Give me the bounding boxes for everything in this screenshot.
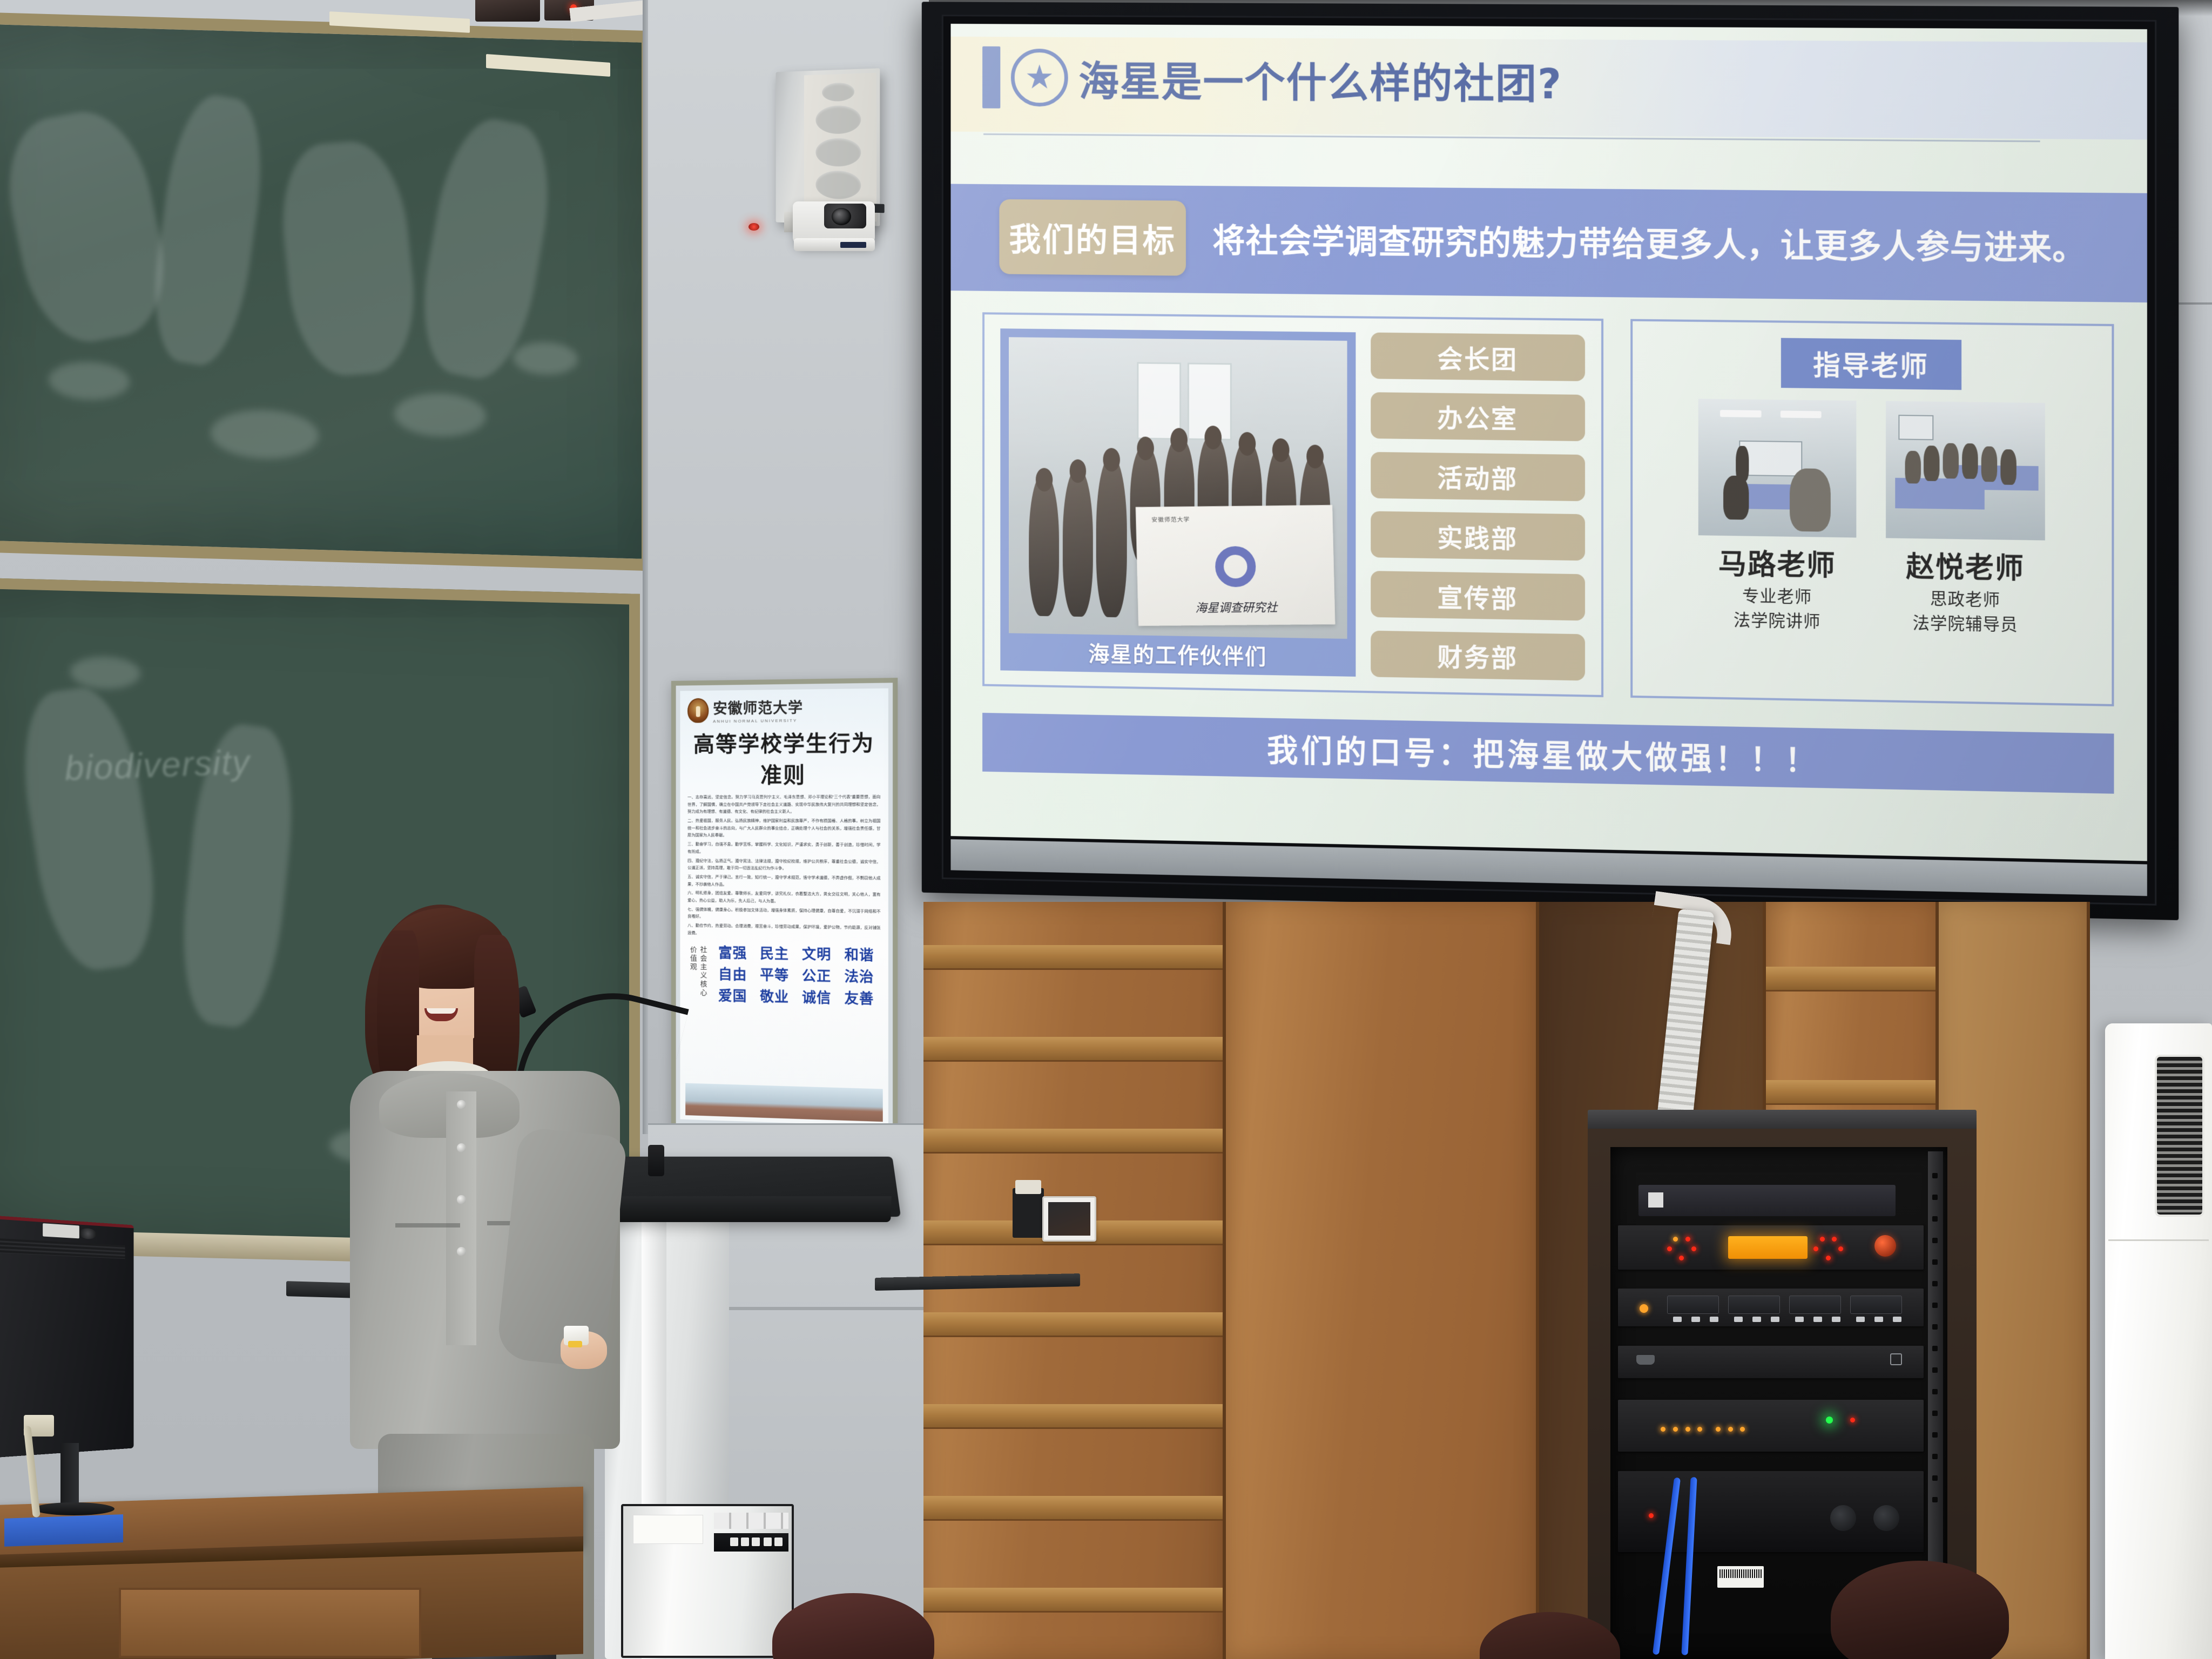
- wall-control-box-top: [1015, 1180, 1041, 1194]
- advisor-card: 马路老师 专业老师 法学院讲师: [1696, 399, 1859, 632]
- department-item[interactable]: 宣传部: [1371, 571, 1585, 621]
- core-values-row: 富强 民主 文明 和谐: [712, 942, 880, 965]
- jacket-snap-button: [457, 1143, 466, 1152]
- goal-banner: 我们的目标 将社会学调查研究的魅力带给更多人，让更多人参与进来。: [950, 184, 2147, 302]
- core-value: 敬业: [760, 986, 789, 1007]
- poster-clause: 七、强健体魄，健康身心。积极参加文体活动，增强身体素质，保持心理健康，自尊自爱，…: [687, 906, 881, 922]
- core-values-label: 社会主义核心价值观: [687, 946, 707, 1002]
- core-value: 和谐: [845, 944, 874, 965]
- slide-content-row: 安徽师范大学 海星调查研究社 海星的工作伙伴们 会长团 办公室: [982, 312, 2114, 706]
- core-value: 富强: [718, 942, 747, 963]
- monitor-label: [43, 1223, 79, 1238]
- microphone-base: [648, 1145, 664, 1176]
- university-name-en: ANHUI NORMAL UNIVERSITY: [713, 718, 803, 724]
- screen-bezel: ★ 海星是一个什么样的社团? 我们的目标 将社会学调查研究的魅力带给更多人，让更…: [942, 15, 2156, 906]
- advisor-role: 思政老师: [1930, 585, 2000, 610]
- asset-barcode-label: [1717, 1566, 1764, 1588]
- poster-clause: 一、志存高远，坚定信念。努力学习马克思列宁主义、毛泽东思想、邓小平理论和“三个代…: [687, 793, 881, 815]
- poster-clause: 六、明礼修身，团结友爱。尊敬师长，友爱同学，讲究礼仪，衣着整洁大方，男女交往文明…: [687, 889, 881, 906]
- advisors-heading: 指导老师: [1813, 343, 1929, 384]
- core-value: 公正: [802, 965, 831, 986]
- group-photo-frame: 安徽师范大学 海星调查研究社 海星的工作伙伴们: [1000, 328, 1356, 677]
- poster-clause: 三、勤奋学习，自强不息。勤学苦练，掌握科学、文化知识，严谨求实，勇于创新，善于创…: [687, 841, 881, 857]
- classroom-scene: biodiversity: [0, 0, 2212, 1659]
- poster-header: 安徽师范大学 ANHUI NORMAL UNIVERSITY: [687, 695, 881, 724]
- poster-campus-photo: [685, 1083, 883, 1122]
- advisor-affiliation: 法学院辅导员: [1913, 609, 2018, 636]
- jacket-snap-button: [457, 1247, 466, 1256]
- organization-panel: 安徽师范大学 海星调查研究社 海星的工作伙伴们 会长团 办公室: [982, 312, 1603, 697]
- rack-media-player[interactable]: [1638, 1185, 1896, 1216]
- advisors-heading-chip: 指导老师: [1781, 338, 1961, 390]
- rack-matrix-switcher[interactable]: [1618, 1346, 1924, 1378]
- monitor-stand-foot: [33, 1502, 114, 1515]
- advisors-row: 马路老师 专业老师 法学院讲师: [1645, 398, 2099, 637]
- presentation-slide: ★ 海星是一个什么样的社团? 我们的目标 将社会学调查研究的魅力带给更多人，让更…: [950, 24, 2147, 861]
- advisor-affiliation: 法学院讲师: [1734, 606, 1820, 632]
- chalkboard-writing: biodiversity: [64, 742, 239, 797]
- infrared-led-icon: [748, 223, 759, 231]
- camera-indicator-strip: [840, 242, 866, 248]
- device-button[interactable]: [1890, 1353, 1902, 1365]
- poster-clause: 五、诚实守信，严于律己。言行一致，知行统一，遵守学术规范，恪守学术道德，不弄虚作…: [687, 873, 881, 889]
- teacher-monitor[interactable]: [0, 1216, 134, 1458]
- ac-panel-seam: [2108, 1239, 2209, 1241]
- core-value: 平等: [760, 965, 789, 985]
- core-value: 法治: [845, 966, 874, 986]
- poster-clause: 二、热爱祖国，服务人民。弘扬民族精神，维护国家利益和民族尊严，不作有损国格、人格…: [687, 817, 881, 840]
- rack-network-switch[interactable]: [1618, 1400, 1924, 1452]
- monitor-port-icon: [79, 1228, 97, 1240]
- wall-control-box[interactable]: [1013, 1188, 1044, 1238]
- slide-title-band: ★ 海星是一个什么样的社团?: [950, 37, 2147, 140]
- group-photo: 安徽师范大学 海星调查研究社: [1009, 337, 1347, 639]
- device-label: [1648, 1192, 1663, 1208]
- poster-title: 高等学校学生行为准则: [687, 725, 881, 789]
- blue-paper-sheet: [4, 1514, 123, 1547]
- speaker-grille: [804, 73, 876, 222]
- device-logo-icon: [1636, 1355, 1655, 1365]
- monitor-stand-neck: [60, 1443, 79, 1508]
- advisor-photo: [1698, 399, 1857, 537]
- monitor-vents: [0, 1238, 125, 1259]
- department-item[interactable]: 财务部: [1371, 631, 1585, 681]
- group-photo-caption: 海星的工作伙伴们: [1009, 633, 1347, 674]
- advisors-panel: 指导老师: [1630, 319, 2114, 706]
- university-crest-icon: [687, 698, 709, 723]
- slogan-bar: 我们的口号：把海星做大做强！！！: [982, 713, 2114, 794]
- door-panel-plain[interactable]: [1226, 902, 1539, 1659]
- slogan-text: 我们的口号：把海星做大做强！！！: [1267, 725, 1820, 781]
- advisor-photo: [1886, 401, 2045, 541]
- amp-volume-knob[interactable]: [1873, 1505, 1899, 1531]
- core-value: 爱国: [718, 985, 747, 1006]
- jacket-snap-button: [457, 1100, 466, 1109]
- poster-clause: 四、遵纪守法，弘扬正气。遵守宪法、法律法规，遵守校纪校规，维护公共秩序，尊重社会…: [687, 857, 881, 873]
- goal-chip: 我们的目标: [999, 199, 1186, 276]
- podium-display: [714, 1533, 788, 1552]
- poster-clauses: 一、志存高远，坚定信念。努力学习马克思列宁主义、毛泽东思想、邓小平理论和“三个代…: [687, 793, 881, 939]
- advisor-name: 赵悦老师: [1906, 544, 2025, 586]
- core-values-row: 爱国 敬业 诚信 友善: [712, 985, 880, 1008]
- banner-club-name: 海星调查研究社: [1138, 597, 1335, 616]
- student-code-poster: 安徽师范大学 ANHUI NORMAL UNIVERSITY 高等学校学生行为准…: [671, 678, 898, 1137]
- club-banner: 安徽师范大学 海星调查研究社: [1136, 505, 1336, 626]
- touch-panel-screen[interactable]: [1048, 1202, 1090, 1236]
- presenter-jacket-placket: [446, 1091, 476, 1345]
- wireless-mic-receiver[interactable]: [1618, 1225, 1924, 1270]
- wall-touch-panel[interactable]: [1042, 1196, 1096, 1242]
- jacket-pocket: [395, 1223, 460, 1228]
- teacher-desk-panel: [119, 1588, 421, 1658]
- projection-screen[interactable]: ★ 海星是一个什么样的社团? 我们的目标 将社会学调查研究的魅力带给更多人，让更…: [922, 2, 2179, 920]
- core-value: 文明: [802, 943, 831, 964]
- screen-surface: ★ 海星是一个什么样的社团? 我们的目标 将社会学调查研究的魅力带给更多人，让更…: [950, 24, 2147, 861]
- club-logo-ring-icon: [1215, 547, 1256, 588]
- title-bar-mark: [982, 46, 1000, 109]
- core-value: 民主: [760, 943, 789, 963]
- core-value: 诚信: [802, 987, 831, 1007]
- advisor-card: 赵悦老师 思政老师 法学院辅导员: [1883, 401, 2048, 636]
- poster-clause: 八、勤俭节约，热爱劳动。合理消费，艰苦奋斗，珍惜劳动成果，保护环境，爱护公物，节…: [687, 922, 881, 939]
- core-values-row: 自由 平等 公正 法治: [712, 963, 880, 987]
- jacket-snap-button: [457, 1195, 466, 1204]
- ac-vent-grille: [2155, 1055, 2204, 1217]
- department-list: 会长团 办公室 活动部 实践部 宣传部 财务部: [1371, 333, 1585, 681]
- department-item[interactable]: 会长团: [1371, 333, 1585, 381]
- core-value: 友善: [845, 988, 874, 1008]
- receiver-display: [1728, 1236, 1808, 1259]
- rack-four-channel-unit[interactable]: [1618, 1289, 1924, 1326]
- camera-lens-icon: [832, 208, 851, 225]
- rack-power-amplifier[interactable]: [1618, 1471, 1924, 1552]
- department-item[interactable]: 办公室: [1371, 392, 1585, 441]
- slide-title: 海星是一个什么样的社团?: [1078, 49, 1562, 111]
- banner-university-text: 安徽师范大学: [1151, 515, 1190, 524]
- power-knob[interactable]: [1874, 1235, 1896, 1257]
- air-conditioner[interactable]: [2105, 1023, 2212, 1659]
- advisor-name: 马路老师: [1718, 541, 1836, 584]
- presenter-teeth: [427, 1008, 456, 1014]
- ptz-camera: [793, 201, 875, 246]
- core-value: 自由: [718, 963, 747, 984]
- core-values-block: 社会主义核心价值观 富强 民主 文明 和谐 自由 平等 公正 法治: [687, 942, 881, 1010]
- podium-button-row[interactable]: [714, 1513, 788, 1529]
- clicker-laser-tip-icon: [568, 1341, 582, 1347]
- university-name: 安徽师范大学: [713, 696, 803, 718]
- goal-text: 将社会学调查研究的魅力带给更多人，让更多人参与进来。: [1212, 214, 2086, 269]
- goal-chip-label: 我们的目标: [1009, 213, 1176, 261]
- star-in-circle-icon: ★: [1011, 49, 1068, 107]
- department-item[interactable]: 活动部: [1371, 451, 1585, 501]
- chalkboard-upper: [0, 12, 653, 571]
- amp-volume-knob[interactable]: [1830, 1505, 1856, 1531]
- department-item[interactable]: 实践部: [1371, 511, 1585, 561]
- advisor-role: 专业老师: [1742, 582, 1812, 608]
